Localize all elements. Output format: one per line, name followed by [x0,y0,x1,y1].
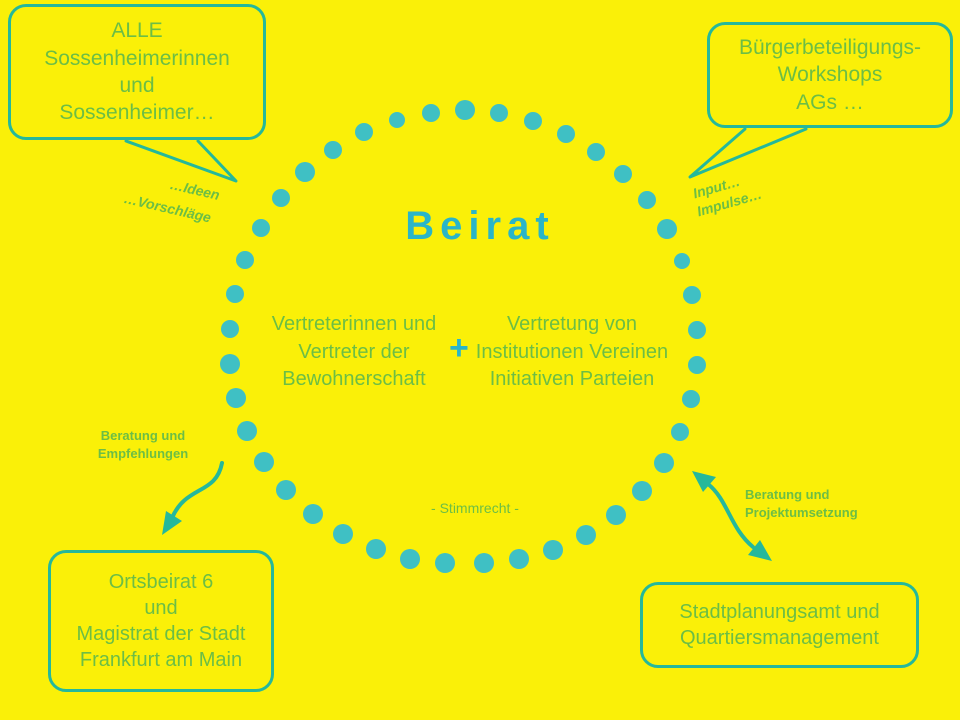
arrow-caption-right-line-1: Beratung und [745,486,911,504]
plus-icon: + [449,331,469,365]
bubble-tail-top-right [690,129,806,177]
arrow-caption-left-line-1: Beratung und [78,427,208,445]
bubble-stadtplanung-line-1: Stadtplanungsamt und [679,599,879,625]
bubble-alle-sossenheimer[interactable]: ALLE Sossenheimerinnen und Sossenheimer… [8,4,266,140]
bubble-workshops-line-3: AGs … [796,89,864,116]
members-residents-line-3: der [381,341,410,363]
bubble-buergerbeteiligung-workshops[interactable]: Bürgerbeteiligungs- Workshops AGs … [707,22,953,128]
arrowhead-left-down [162,511,182,535]
bubble-tail-top-left [126,141,236,181]
bubble-ortsbeirat-magistrat[interactable]: Ortsbeirat 6 und Magistrat der Stadt Fra… [48,550,274,692]
bubble-alle-line-4: Sossenheimer… [59,99,214,126]
bubble-ortsbeirat-line-3: Magistrat der Stadt [77,621,246,647]
bubble-workshops-line-2: Workshops [778,61,883,88]
arrow-caption-left: Beratung und Empfehlungen [78,427,208,462]
members-institutions-line-4: Vereinen [589,341,668,363]
members-institutions-line-5: Initiativen [490,368,575,390]
flow-label-ideen: …Ideen [168,176,221,203]
members-residents-line-4: Bewohnerschaft [282,368,425,390]
arrowhead-right-down [748,540,772,561]
arrow-caption-right: Beratung und Projektumsetzung [745,486,911,521]
bubble-stadtplanungsamt-quartiersmanagement[interactable]: Stadtplanungsamt und Quartiersmanagement [640,582,919,668]
arrow-caption-right-line-2: Projektumsetzung [745,504,911,522]
members-institutions-column: Vertretung von Institutionen Vereinen In… [472,311,672,394]
bubble-alle-line-3: und [119,72,154,99]
bubble-alle-line-1: ALLE [111,17,162,44]
members-institutions-line-1: Vertretung [507,313,599,335]
voting-rights-note: - Stimmrecht - [350,500,600,516]
members-residents-column: Vertreterinnen und Vertreter der Bewohne… [262,311,446,394]
bubble-alle-line-2: Sossenheimerinnen [44,45,230,72]
bubble-ortsbeirat-line-1: Ortsbeirat 6 [109,569,213,595]
diagram-canvas: Beirat Vertreterinnen und Vertreter der … [0,0,960,720]
arrow-caption-left-line-2: Empfehlungen [78,445,208,463]
members-residents-line-1: Vertreterinnen [272,313,398,335]
bubble-ortsbeirat-line-2: und [144,595,177,621]
members-institutions-line-6: Parteien [580,368,655,390]
members-institutions-line-2: von [605,313,637,335]
bubble-stadtplanung-line-2: Quartiersmanagement [680,625,879,651]
bubble-ortsbeirat-line-4: Frankfurt am Main [80,647,242,673]
members-institutions-line-3: Institutionen [476,341,584,363]
arrowhead-right-up [692,471,716,492]
bubble-workshops-line-1: Bürgerbeteiligungs- [739,34,921,61]
arrow-beratung-empfehlungen [172,463,222,518]
